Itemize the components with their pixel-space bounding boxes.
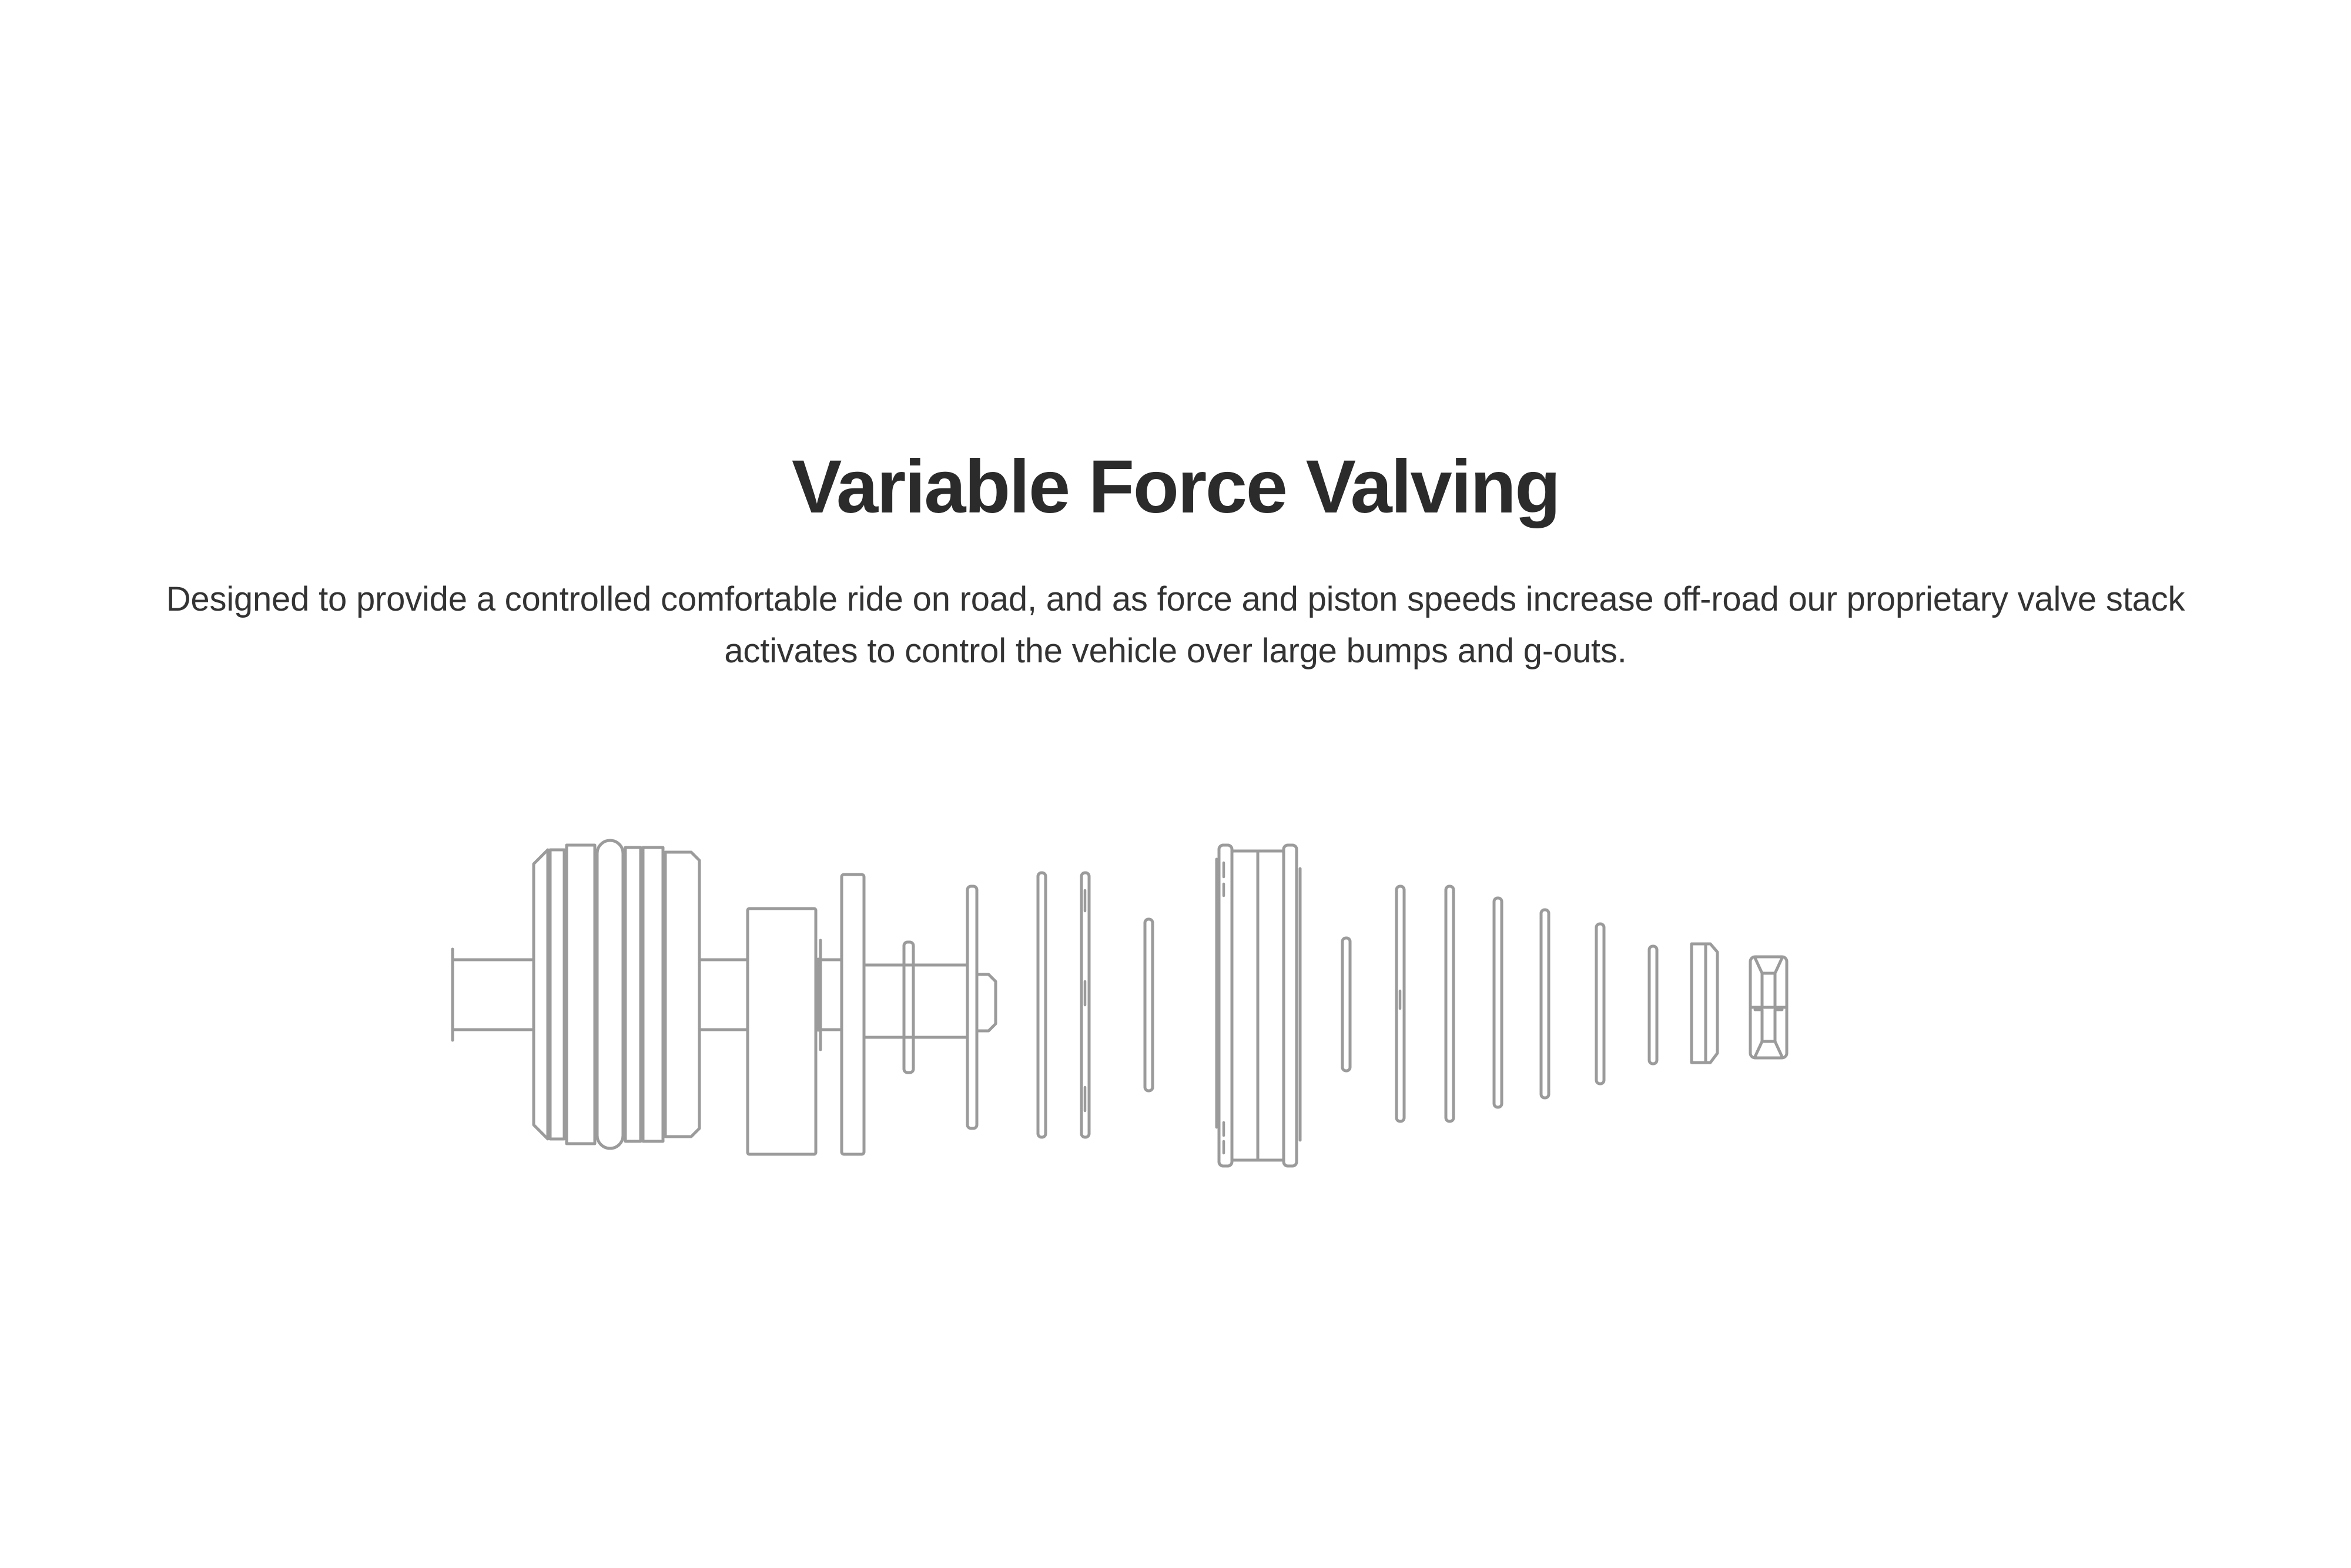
rod-body xyxy=(820,960,842,1030)
shim-8 xyxy=(1541,910,1549,1098)
seal-washer-outer-left xyxy=(534,850,548,1139)
shim-9 xyxy=(1596,924,1604,1084)
shim-7 xyxy=(1494,898,1502,1107)
retaining-ring xyxy=(818,940,820,1050)
shim-4 xyxy=(1342,938,1350,1071)
exploded-valve-stack-diagram xyxy=(447,835,2034,1269)
description-line-1: Designed to provide a controlled comfort… xyxy=(0,574,2351,625)
threaded-tip xyxy=(977,974,996,1031)
seal-washer-right-1 xyxy=(625,847,641,1141)
shaft-segment-left xyxy=(699,960,748,1030)
shim-5 xyxy=(1396,886,1404,1121)
page-root: Variable Force Valving Designed to provi… xyxy=(0,0,2351,1568)
seal-washer-left-3 xyxy=(567,845,595,1144)
shim-6 xyxy=(1446,886,1454,1121)
description-line-2: activates to control the vehicle over la… xyxy=(0,625,2351,677)
shaft-stub xyxy=(453,949,534,1040)
shim-3 xyxy=(1145,919,1153,1091)
rod-shoulder xyxy=(864,965,967,1037)
shim-1 xyxy=(1038,873,1046,1137)
spacer-block xyxy=(748,909,816,1154)
page-description: Designed to provide a controlled comfort… xyxy=(0,528,2351,677)
small-shim-a xyxy=(904,942,913,1073)
page-title: Variable Force Valving xyxy=(0,447,2351,528)
seal-washer-right-2 xyxy=(643,847,663,1141)
shim-10 xyxy=(1649,946,1657,1064)
o-ring xyxy=(597,840,623,1148)
shim-2 xyxy=(1081,873,1089,1137)
diagram-svg xyxy=(447,835,2034,1269)
intro-text-block: Variable Force Valving Designed to provi… xyxy=(0,447,2351,678)
piston-body xyxy=(1217,845,1300,1166)
rod-collar xyxy=(842,875,864,1154)
hex-nut xyxy=(1750,957,1787,1058)
backing-washer xyxy=(1692,944,1717,1063)
seal-washer-left-2 xyxy=(550,850,564,1139)
seal-washer-right-3 xyxy=(665,852,699,1137)
